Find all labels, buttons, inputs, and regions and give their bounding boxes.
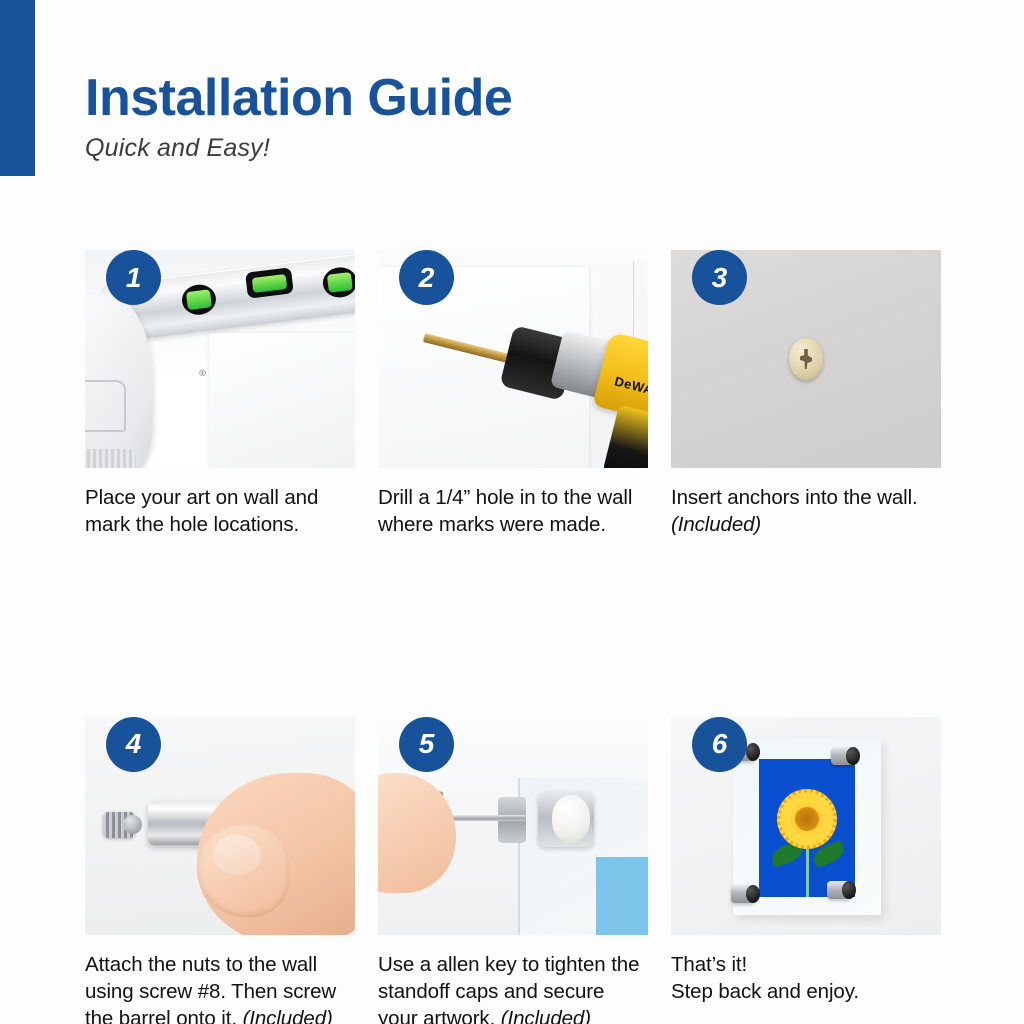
step-badge-4: 4	[106, 717, 161, 772]
step-card-2: 2 DeWALT Drill a 1/4” hole in to the wal…	[378, 228, 648, 539]
step-card-5: 5 Use a allen key to tighten the standof…	[378, 695, 648, 1024]
step-card-3: 3 Insert anchors into the wall. (Include…	[671, 228, 941, 539]
blue-artwork-corner	[596, 857, 648, 935]
step-note-3: (Included)	[671, 513, 761, 536]
bubble-vial-icon	[180, 283, 217, 317]
step-note-4: (Included)	[243, 1007, 333, 1024]
hand	[378, 773, 456, 893]
bubble-vial-icon	[245, 267, 294, 298]
header: Installation Guide Quick and Easy!	[85, 70, 885, 163]
wall-anchor-icon	[789, 338, 823, 380]
standoff-icon	[731, 885, 755, 903]
standoff-icon	[827, 881, 851, 899]
header-accent-bar	[0, 0, 35, 176]
step-image-1: 1 ⊕	[85, 250, 355, 468]
page-title: Installation Guide	[85, 70, 885, 126]
step-caption-5: Use a allen key to tighten the standoff …	[378, 951, 648, 1024]
art-panel	[209, 333, 355, 468]
standoff-cap-icon	[538, 791, 594, 847]
pencil-mark-icon: ⊕	[198, 368, 206, 379]
threaded-nut-icon	[103, 812, 135, 838]
glove-logo	[85, 380, 126, 432]
step-image-3: 3	[671, 250, 941, 468]
step-image-4: 4	[85, 717, 355, 935]
step-caption-3: Insert anchors into the wall. (Included)	[671, 484, 941, 539]
step-badge-1: 1	[106, 250, 161, 305]
drill-grip	[602, 405, 648, 468]
steps-grid: 1 ⊕ Place your art on wall and mark the …	[85, 228, 941, 1024]
step-card-4: 4 Attach the nuts to the wall using scre…	[85, 695, 355, 1024]
step-caption-6: That’s it! Step back and enjoy.	[671, 951, 941, 1006]
step-image-2: 2 DeWALT	[378, 250, 648, 468]
step-caption-text-3: Insert anchors into the wall.	[671, 486, 918, 509]
sunflower-artwork	[759, 759, 855, 897]
installation-guide-page: Installation Guide Quick and Easy! 1	[0, 0, 1024, 1024]
step-badge-5: 5	[399, 717, 454, 772]
thumbnail	[213, 835, 261, 875]
step-caption-4: Attach the nuts to the wall using screw …	[85, 951, 355, 1024]
bubble-vial-icon	[321, 265, 355, 299]
step-caption-1: Place your art on wall and mark the hole…	[85, 484, 355, 539]
step-badge-3: 3	[692, 250, 747, 305]
standoff-icon	[831, 747, 855, 765]
step-card-6: 6	[671, 695, 941, 1024]
step-image-5: 5	[378, 717, 648, 935]
step-caption-2: Drill a 1/4” hole in to the wall where m…	[378, 484, 648, 539]
sunflower-center	[795, 807, 819, 831]
step-image-6: 6	[671, 717, 941, 935]
step-badge-6: 6	[692, 717, 747, 772]
step-card-1: 1 ⊕ Place your art on wall and mark the …	[85, 228, 355, 539]
step-badge-2: 2	[399, 250, 454, 305]
page-subtitle: Quick and Easy!	[85, 134, 885, 163]
step-note-5: (Included)	[501, 1007, 591, 1024]
